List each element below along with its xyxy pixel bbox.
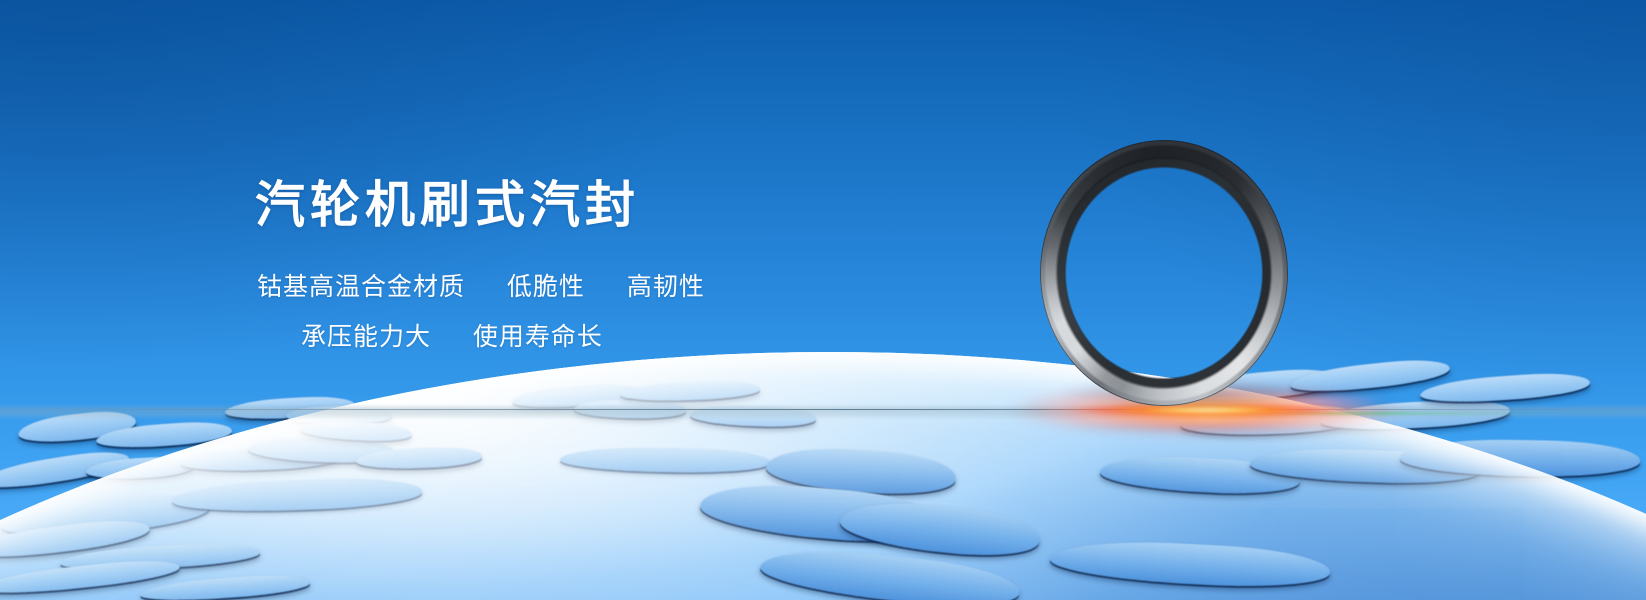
feature-line-1: 钴基高温合金材质 低脆性 高韧性 — [257, 270, 955, 304]
hero-banner: 汽轮机刷式汽封 钴基高温合金材质 低脆性 高韧性 承压能力大 使用寿命长 — [0, 0, 1646, 600]
globe-container — [0, 330, 1646, 600]
banner-text-block: 汽轮机刷式汽封 钴基高温合金材质 低脆性 高韧性 承压能力大 使用寿命长 — [255, 176, 955, 354]
feature-item-high-toughness: 高韧性 — [627, 273, 705, 301]
feature-item-material: 钴基高温合金材质 — [257, 273, 465, 301]
banner-headline: 汽轮机刷式汽封 — [255, 176, 955, 234]
feature-item-service-life: 使用寿命长 — [473, 323, 603, 351]
ring-outline — [1040, 140, 1288, 406]
feature-item-low-brittleness: 低脆性 — [507, 273, 585, 301]
feature-item-pressure-capacity: 承压能力大 — [301, 323, 431, 351]
landmass — [1419, 370, 1590, 406]
feature-line-2: 承压能力大 使用寿命长 — [301, 320, 955, 354]
